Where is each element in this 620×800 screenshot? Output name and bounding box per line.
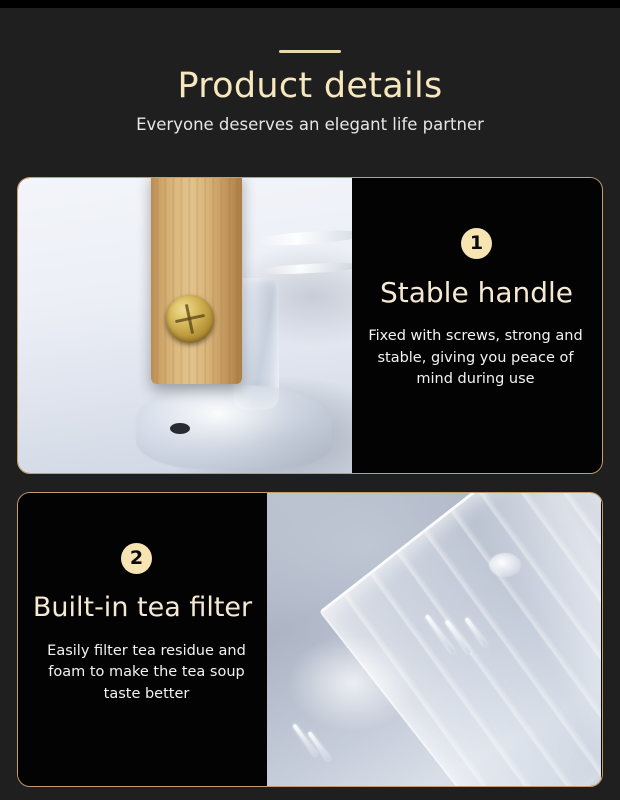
feature-title: Stable handle	[352, 277, 601, 309]
page-title: Product details	[0, 67, 620, 106]
glass-shadow-detail	[170, 423, 190, 434]
feature-description: Fixed with screws, strong and stable, gi…	[366, 326, 585, 390]
step-number-badge: 1	[461, 228, 492, 259]
glass-rim-highlight	[256, 228, 352, 247]
filter-photo-background	[267, 493, 601, 786]
page-header: Product details Everyone deserves an ele…	[0, 8, 620, 168]
wooden-handle	[151, 178, 242, 384]
wood-grain-texture	[151, 178, 242, 384]
feature-description: Easily filter tea residue and foam to ma…	[44, 641, 249, 705]
handle-photo-background	[18, 178, 352, 473]
soft-light-haze	[289, 635, 415, 731]
step-number-badge: 2	[121, 543, 152, 574]
glass-rim-highlight	[262, 261, 352, 275]
spout-tip-highlight	[489, 553, 521, 577]
feature-title: Built-in tea filter	[18, 592, 267, 623]
filter-text-panel: 2 Built-in tea filter Easily filter tea …	[18, 493, 267, 786]
feature-card-tea-filter[interactable]: 2 Built-in tea filter Easily filter tea …	[17, 492, 603, 787]
feature-card-stable-handle[interactable]: 1 Stable handle Fixed with screws, stron…	[17, 177, 603, 474]
glass-base	[136, 385, 332, 469]
brass-screw-icon	[166, 295, 214, 343]
top-black-strip	[0, 0, 620, 8]
handle-photo	[18, 178, 352, 473]
handle-text-panel: 1 Stable handle Fixed with screws, stron…	[352, 178, 601, 473]
product-details-page: Product details Everyone deserves an ele…	[0, 0, 620, 800]
gold-divider-icon	[279, 50, 341, 53]
filter-photo	[267, 493, 601, 786]
page-subtitle: Everyone deserves an elegant life partne…	[0, 115, 620, 135]
